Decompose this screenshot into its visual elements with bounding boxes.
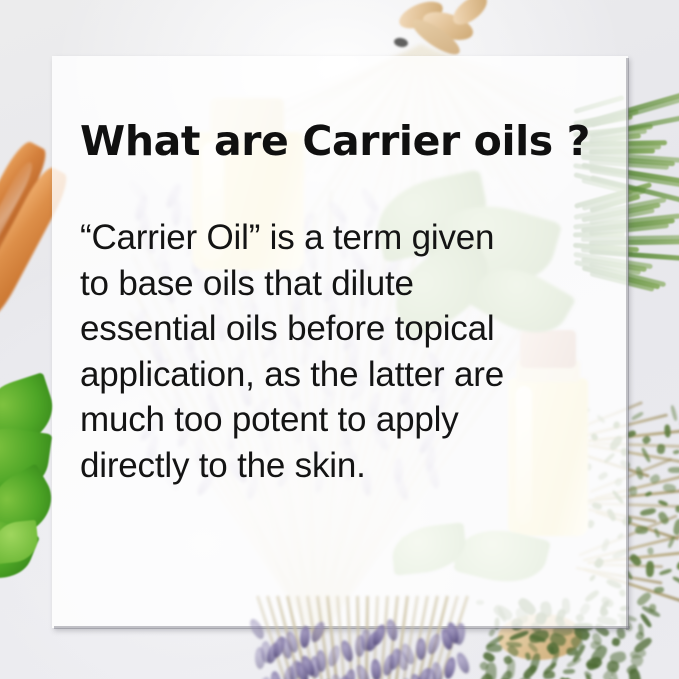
copy-block: What are Carrier oils ? “Carrier Oil” is…	[80, 120, 610, 488]
infographic-poster: What are Carrier oils ? “Carrier Oil” is…	[0, 0, 679, 679]
body-line: directly to the skin.	[80, 443, 610, 489]
lavender-stems-foreground-icon	[248, 596, 478, 679]
body-line: “Carrier Oil” is a term given	[80, 215, 610, 261]
body-line: to base oils that dilute	[80, 261, 610, 307]
body-line: essential oils before topical	[80, 306, 610, 352]
mint-leaves-left-icon	[0, 372, 72, 592]
body-line: much too potent to apply	[80, 397, 610, 443]
card-edge-right	[626, 58, 629, 630]
body-paragraph: “Carrier Oil” is a term given to base oi…	[80, 163, 610, 488]
body-line: application, as the latter are	[80, 352, 610, 398]
page-title: What are Carrier oils ?	[80, 120, 610, 163]
